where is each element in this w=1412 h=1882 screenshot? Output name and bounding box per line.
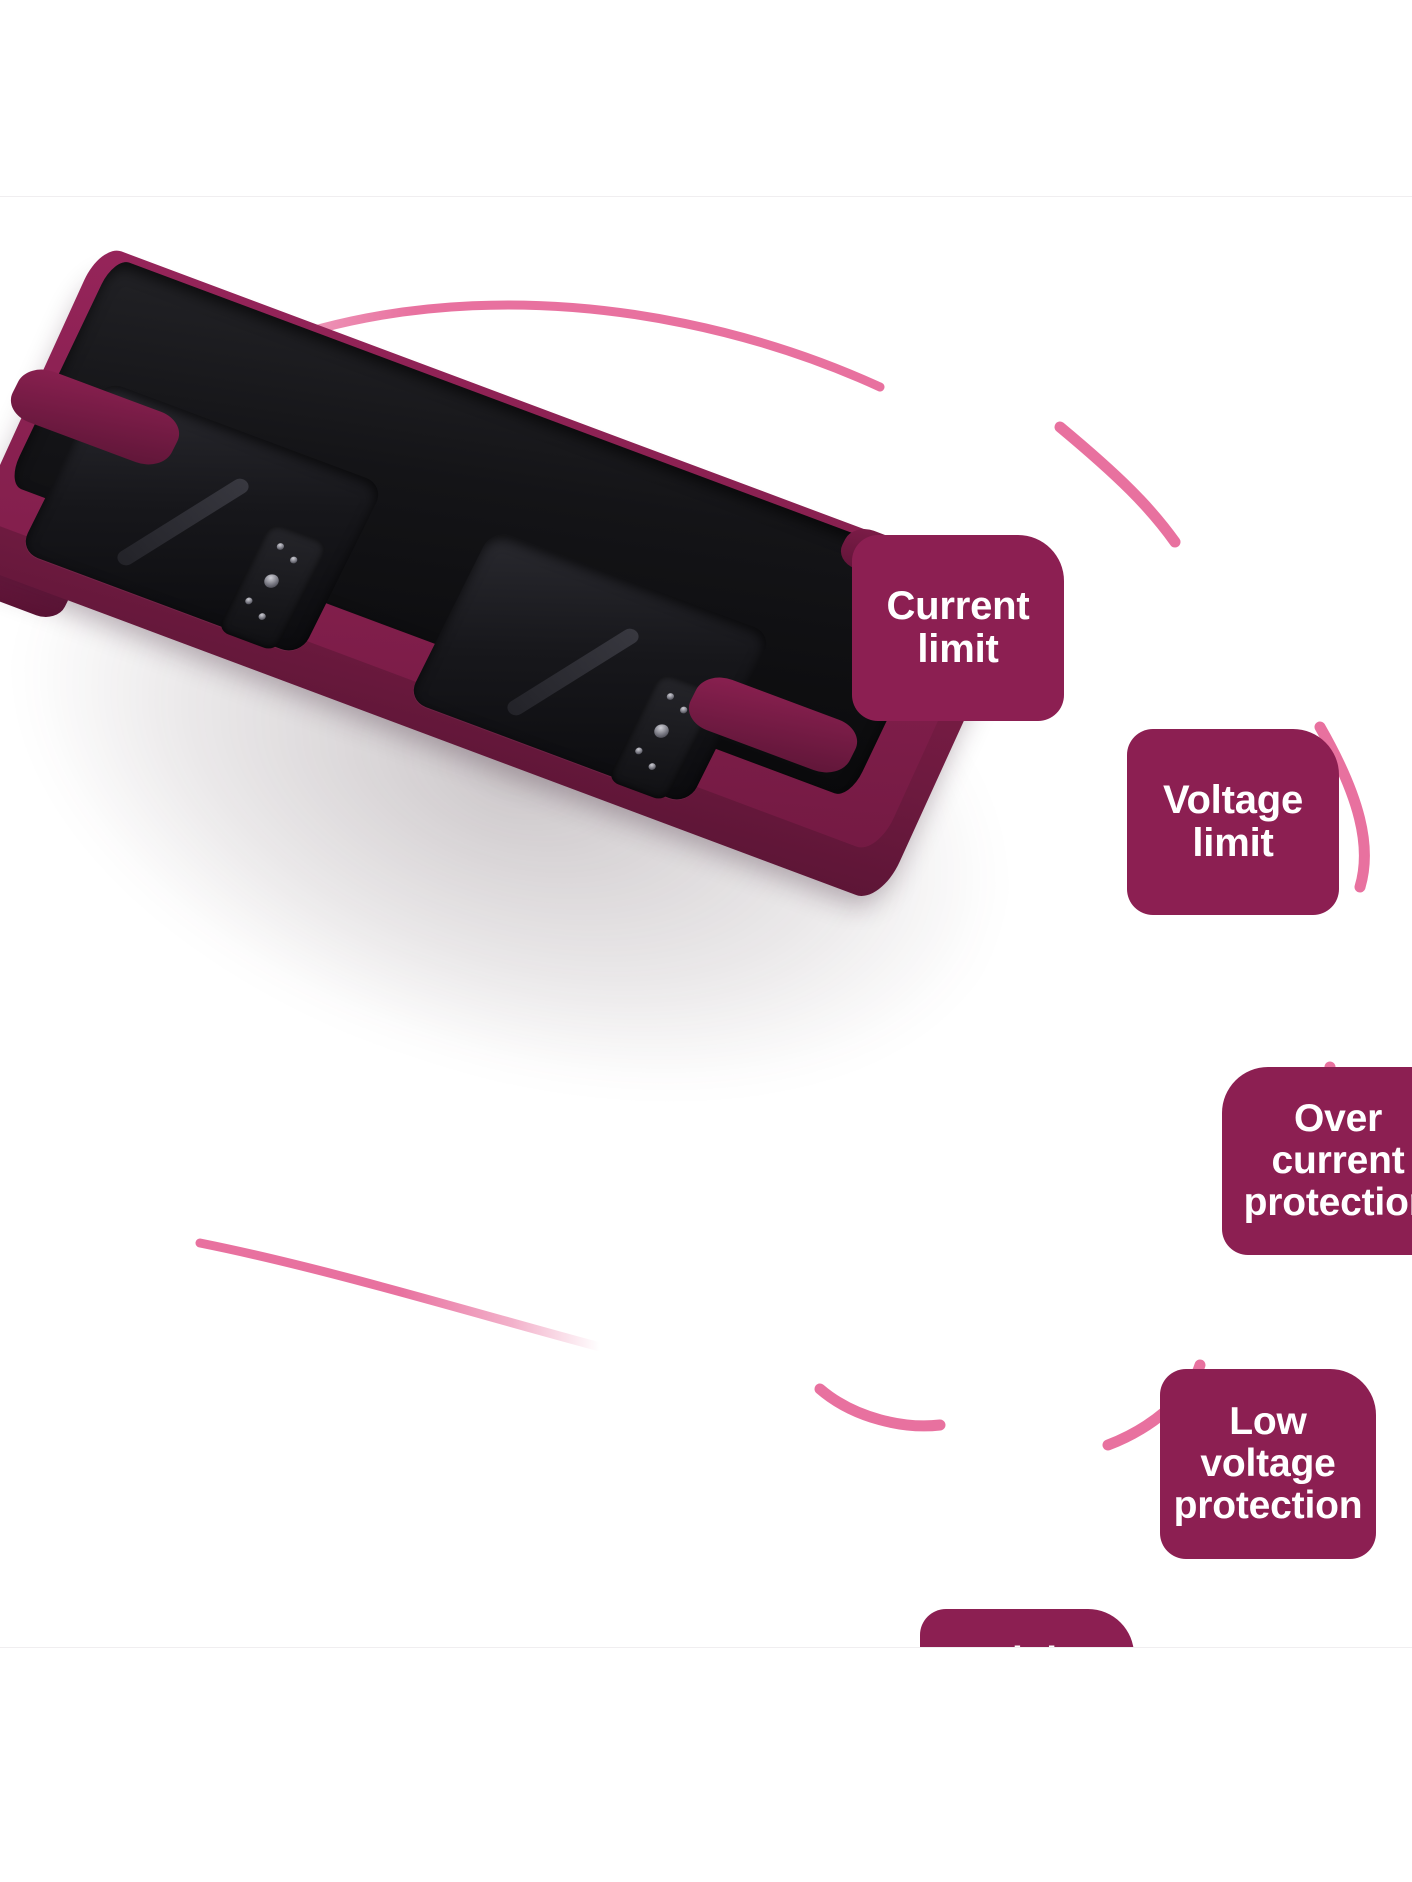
callout-badge-over-current-protection: Over current protection	[1222, 1067, 1412, 1255]
callout-line: High	[984, 1641, 1070, 1648]
infographic-canvas: Current limit Voltage limit Over current…	[0, 196, 1412, 1648]
callout-badge-current-limit: Current limit	[852, 535, 1064, 721]
callout-line: limit	[1192, 822, 1273, 865]
callout-line: limit	[917, 628, 998, 671]
callout-line: protection	[1174, 1485, 1363, 1527]
callout-line: protection	[1244, 1182, 1412, 1224]
callout-line: Over	[1294, 1098, 1382, 1140]
callout-line: Current	[886, 585, 1029, 628]
callout-line: current	[1272, 1140, 1405, 1182]
callout-badge-high-voltage-protection: High voltage protection	[920, 1609, 1134, 1648]
product-image-charging-dock	[0, 377, 1130, 1137]
callout-line: Low	[1229, 1401, 1306, 1443]
callout-badge-low-voltage-protection: Low voltage protection	[1160, 1369, 1376, 1559]
callout-line: voltage	[1200, 1443, 1335, 1485]
callout-line: Voltage	[1163, 779, 1303, 822]
infographic-page: Built-in Multiple Protection Design	[0, 0, 1412, 1882]
callout-badge-voltage-limit: Voltage limit	[1127, 729, 1339, 915]
